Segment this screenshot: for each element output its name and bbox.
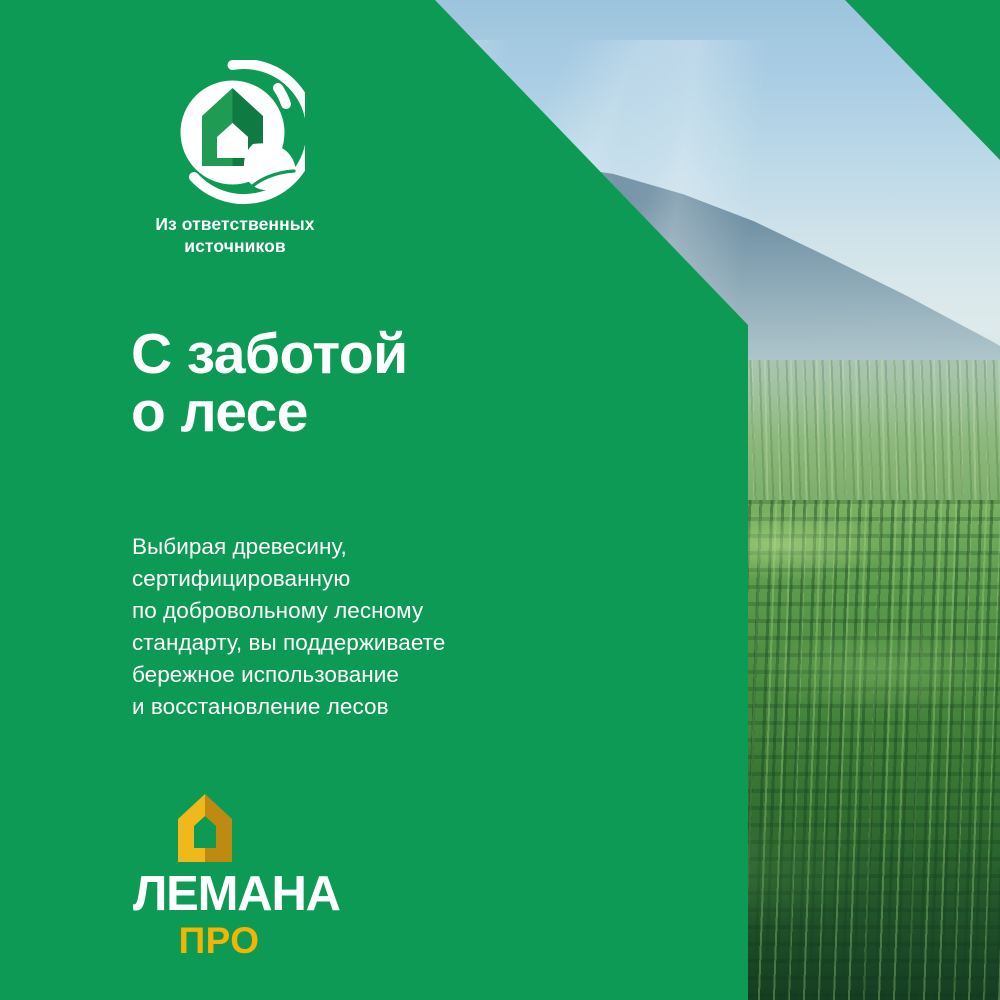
responsible-sources-circle-house-leaf-icon [160, 60, 305, 205]
certification-caption-line1: Из ответственных [120, 214, 350, 236]
headline-line1: С заботой [131, 325, 408, 383]
body-copy-line2: сертифицированную [132, 563, 445, 595]
brand-name: ЛЕМАНА [133, 870, 305, 919]
poster-content: Из ответственных источников С заботой о … [0, 0, 1000, 1000]
body-copy: Выбирая древесину, сертифицированную по … [132, 531, 445, 723]
poster-root: Из ответственных источников С заботой о … [0, 0, 1000, 1000]
lemana-pro-house-icon [166, 792, 244, 864]
body-copy-line1: Выбирая древесину, [132, 531, 445, 563]
body-copy-line3: по добровольному лесному [132, 595, 445, 627]
certification-caption-line2: источников [120, 236, 350, 258]
page-title: С заботой о лесе [131, 325, 408, 441]
headline-line2: о лесе [131, 383, 408, 441]
brand-sub: ПРО [133, 922, 305, 959]
brand-logo: ЛЕМАНА ПРО [133, 792, 333, 959]
body-copy-line4: стандарту, вы поддерживаете [132, 627, 445, 659]
certification-caption: Из ответственных источников [120, 214, 350, 257]
body-copy-line5: бережное использование [132, 659, 445, 691]
body-copy-line6: и восстановление лесов [132, 691, 445, 723]
